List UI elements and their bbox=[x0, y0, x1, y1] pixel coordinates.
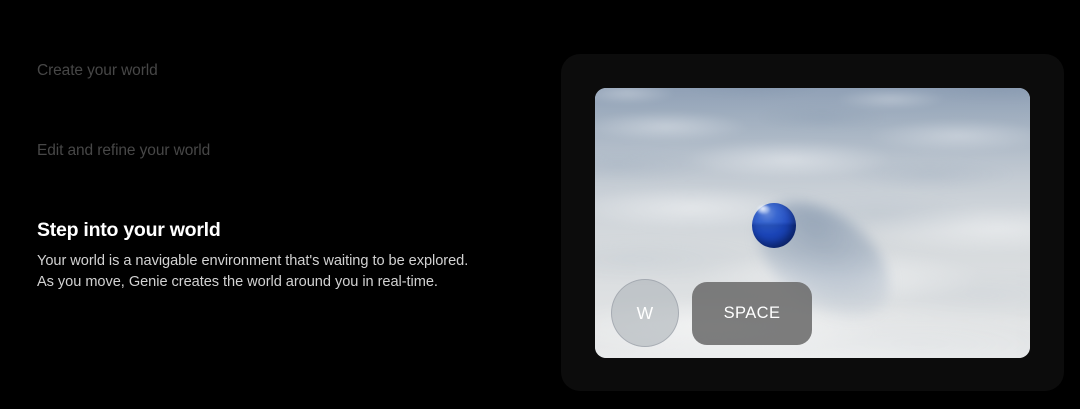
step-description-line-1: Your world is a navigable environment th… bbox=[37, 251, 507, 272]
key-indicators: W SPACE bbox=[611, 279, 812, 347]
step-title: Step into your world bbox=[37, 218, 507, 242]
steps-list: Create your world Edit and refine your w… bbox=[37, 0, 537, 409]
sphere-highlight bbox=[757, 205, 770, 214]
demo-card: W SPACE bbox=[561, 54, 1064, 391]
step-item-create[interactable]: Create your world bbox=[37, 62, 158, 80]
step-description-line-2: As you move, Genie creates the world aro… bbox=[37, 272, 507, 293]
blue-sphere bbox=[752, 203, 796, 248]
demo-viewport[interactable]: W SPACE bbox=[595, 88, 1030, 358]
key-indicator-w[interactable]: W bbox=[611, 279, 679, 347]
step-item-step-into[interactable]: Step into your world Your world is a nav… bbox=[37, 218, 507, 293]
key-indicator-space[interactable]: SPACE bbox=[692, 282, 812, 345]
step-description: Your world is a navigable environment th… bbox=[37, 251, 507, 293]
step-item-edit[interactable]: Edit and refine your world bbox=[37, 142, 210, 160]
